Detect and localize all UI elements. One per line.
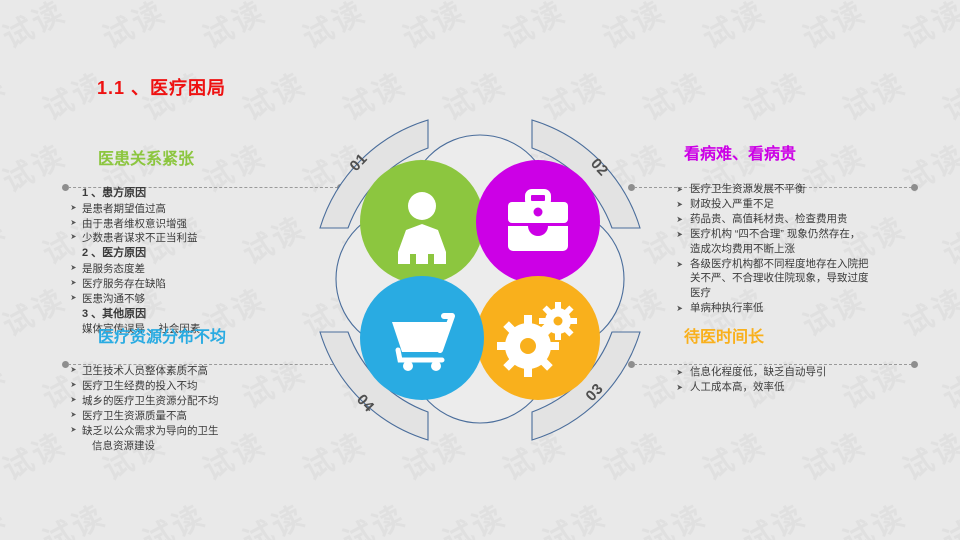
watermark-text: 试读: [34, 491, 113, 540]
list-item: 单病种执行率低: [672, 301, 954, 316]
list-item: 医疗卫生经费的投入不均: [68, 379, 338, 394]
node-03-gears[interactable]: [476, 276, 600, 400]
list-item: 医疗机构 “四不合理” 现象仍然存在，: [672, 227, 954, 242]
watermark-text: 试读: [0, 59, 12, 129]
list-subheading: 1 、患方原因: [68, 186, 338, 202]
node-02-briefcase[interactable]: [476, 160, 600, 284]
panel-03-body: 信息化程度低，缺乏自动导引人工成本高，效率低: [672, 365, 954, 395]
watermark-text: 试读: [94, 0, 173, 57]
panel-03: 待医时间长 信息化程度低，缺乏自动导引人工成本高，效率低: [672, 328, 954, 395]
panel-02-heading: 看病难、看病贵: [672, 145, 954, 165]
list-item: 卫生技术人员整体素质不高: [68, 364, 338, 379]
list-item: 人工成本高，效率低: [672, 380, 954, 395]
list-item: 各级医疗机构都不同程度地存在入院把: [672, 257, 954, 272]
watermark-text: 试读: [0, 419, 72, 489]
list-item: 由于患者维权意识增强: [68, 217, 338, 232]
node-01-person[interactable]: [360, 160, 484, 284]
list-item: 医疗卫生资源质量不高: [68, 409, 338, 424]
watermark-text: 试读: [794, 419, 873, 489]
watermark-text: 试读: [834, 59, 913, 129]
watermark-text: 试读: [0, 203, 12, 273]
panel-01: 医患关系紧张 1 、患方原因是患者期望值过高由于患者维权意识增强少数患者谋求不正…: [68, 150, 338, 337]
list-item: 医患沟通不够: [68, 292, 338, 307]
watermark-text: 试读: [494, 0, 573, 57]
panel-01-body: 1 、患方原因是患者期望值过高由于患者维权意识增强少数患者谋求不正当利益2 、医…: [68, 186, 338, 337]
watermark-text: 试读: [434, 491, 513, 540]
watermark-text: 试读: [694, 419, 773, 489]
watermark-text: 试读: [294, 0, 373, 57]
watermark-text: 试读: [694, 0, 773, 57]
watermark-text: 试读: [894, 0, 960, 57]
panel-03-heading: 待医时间长: [672, 328, 954, 348]
watermark-text: 试读: [534, 491, 613, 540]
list-item: 是患者期望值过高: [68, 202, 338, 217]
list-item: 信息资源建设: [68, 439, 338, 454]
watermark-text: 试读: [834, 491, 913, 540]
list-item: 造成次均费用不断上涨: [672, 242, 954, 257]
list-item: 关不严、不合理收住院现象，导致过度: [672, 271, 954, 286]
node-04-cart[interactable]: [360, 276, 484, 400]
panel-01-heading: 医患关系紧张: [68, 150, 338, 170]
watermark-text: 试读: [194, 0, 273, 57]
watermark-text: 试读: [934, 59, 960, 129]
watermark-text: 试读: [0, 0, 72, 57]
panel-04-body: 卫生技术人员整体素质不高医疗卫生经费的投入不均城乡的医疗卫生资源分配不均医疗卫生…: [68, 364, 338, 453]
list-subheading: 3 、其他原因: [68, 307, 338, 323]
list-item: 城乡的医疗卫生资源分配不均: [68, 394, 338, 409]
watermark-text: 试读: [594, 0, 673, 57]
panel-04: 医疗资源分布不均 卫生技术人员整体素质不高医疗卫生经费的投入不均城乡的医疗卫生资…: [68, 328, 338, 453]
watermark-text: 试读: [394, 0, 473, 57]
watermark-text: 试读: [334, 491, 413, 540]
watermark-text: 试读: [0, 491, 12, 540]
list-item: 财政投入严重不足: [672, 197, 954, 212]
watermark-text: 试读: [734, 491, 813, 540]
watermark-text: 试读: [934, 491, 960, 540]
list-item: 是服务态度差: [68, 262, 338, 277]
list-item: 少数患者谋求不正当利益: [68, 231, 338, 246]
watermark-text: 试读: [734, 59, 813, 129]
watermark-text: 试读: [0, 347, 12, 417]
central-infographic-diagram: 01 02 03 04: [300, 100, 660, 460]
page-title: 1.1 、医疗困局: [97, 74, 226, 100]
watermark-text: 试读: [794, 0, 873, 57]
watermark-text: 试读: [234, 491, 313, 540]
list-item: 信息化程度低，缺乏自动导引: [672, 365, 954, 380]
watermark-text: 试读: [0, 275, 72, 345]
list-item: 缺乏以公众需求为导向的卫生: [68, 424, 338, 439]
list-item: 药品贵、高值耗材贵、检查费用贵: [672, 212, 954, 227]
list-item: 医疗服务存在缺陷: [68, 277, 338, 292]
panel-04-heading: 医疗资源分布不均: [68, 328, 338, 348]
list-subheading: 2 、医方原因: [68, 246, 338, 262]
watermark-text: 试读: [134, 491, 213, 540]
panel-02: 看病难、看病贵 医疗卫生资源发展不平衡财政投入严重不足药品贵、高值耗材贵、检查费…: [672, 145, 954, 316]
watermark-text: 试读: [634, 491, 713, 540]
list-item: 医疗: [672, 286, 954, 301]
list-item: 医疗卫生资源发展不平衡: [672, 182, 954, 197]
panel-02-body: 医疗卫生资源发展不平衡财政投入严重不足药品贵、高值耗材贵、检查费用贵医疗机构 “…: [672, 182, 954, 316]
watermark-text: 试读: [894, 419, 960, 489]
